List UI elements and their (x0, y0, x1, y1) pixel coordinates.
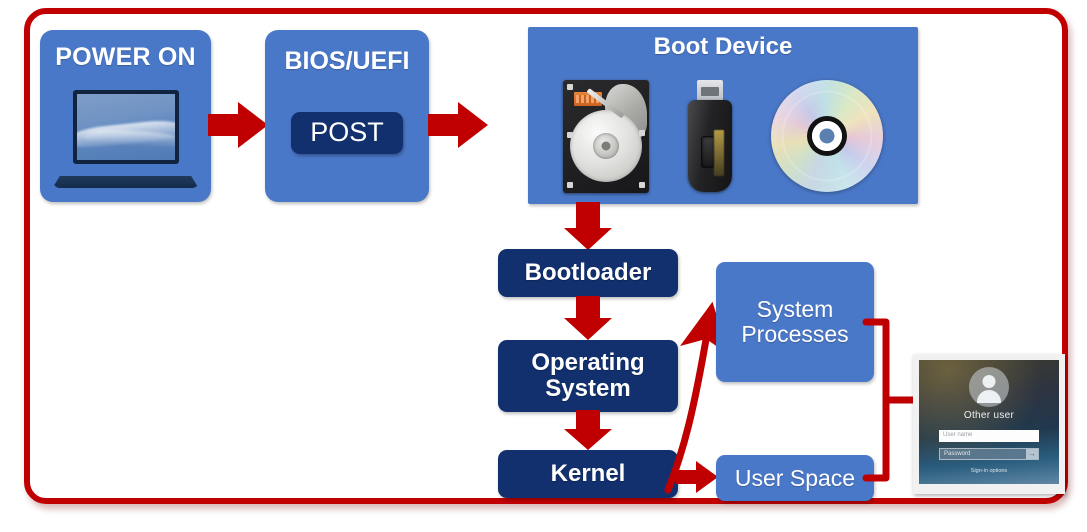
boot-process-diagram: POWER ON BIOS/UEFI POST Boot Device (0, 0, 1087, 532)
post-label: POST (310, 118, 384, 147)
user-avatar-icon (969, 367, 1009, 407)
login-username-input[interactable]: User name (939, 430, 1039, 442)
stage-box-operating-system[interactable]: Operating System (498, 340, 678, 412)
operating-system-label: Operating System (498, 350, 678, 402)
login-signin-options-link[interactable]: Sign-in options (919, 468, 1059, 474)
power-on-label: POWER ON (40, 44, 211, 71)
login-submit-arrow-icon[interactable]: → (1026, 449, 1038, 459)
post-chip[interactable]: POST (291, 112, 403, 154)
login-user-label: Other user (919, 410, 1059, 421)
bios-uefi-label: BIOS/UEFI (265, 48, 429, 75)
stage-box-system-processes[interactable]: System Processes (716, 262, 874, 382)
login-screen-thumbnail[interactable]: Other user User name Password → Sign-in … (913, 354, 1065, 494)
optical-disc-icon (771, 80, 883, 192)
bootloader-label: Bootloader (498, 260, 678, 286)
boot-device-media-row (528, 71, 918, 201)
laptop-icon (53, 90, 199, 188)
system-processes-label: System Processes (716, 297, 874, 347)
stage-box-bootloader[interactable]: Bootloader (498, 249, 678, 297)
stage-box-boot-device[interactable]: Boot Device (528, 27, 918, 204)
usb-flash-drive-icon (688, 80, 732, 192)
user-space-label: User Space (716, 466, 874, 491)
stage-box-bios-uefi[interactable]: BIOS/UEFI POST (265, 30, 429, 202)
kernel-label: Kernel (498, 461, 678, 487)
login-password-input[interactable]: Password → (939, 448, 1039, 460)
stage-box-user-space[interactable]: User Space (716, 455, 874, 501)
hard-disk-drive-icon (563, 80, 649, 193)
login-password-placeholder: Password (944, 451, 970, 457)
stage-box-kernel[interactable]: Kernel (498, 450, 678, 498)
stage-box-power-on[interactable]: POWER ON (40, 30, 211, 202)
boot-device-label: Boot Device (528, 34, 918, 60)
